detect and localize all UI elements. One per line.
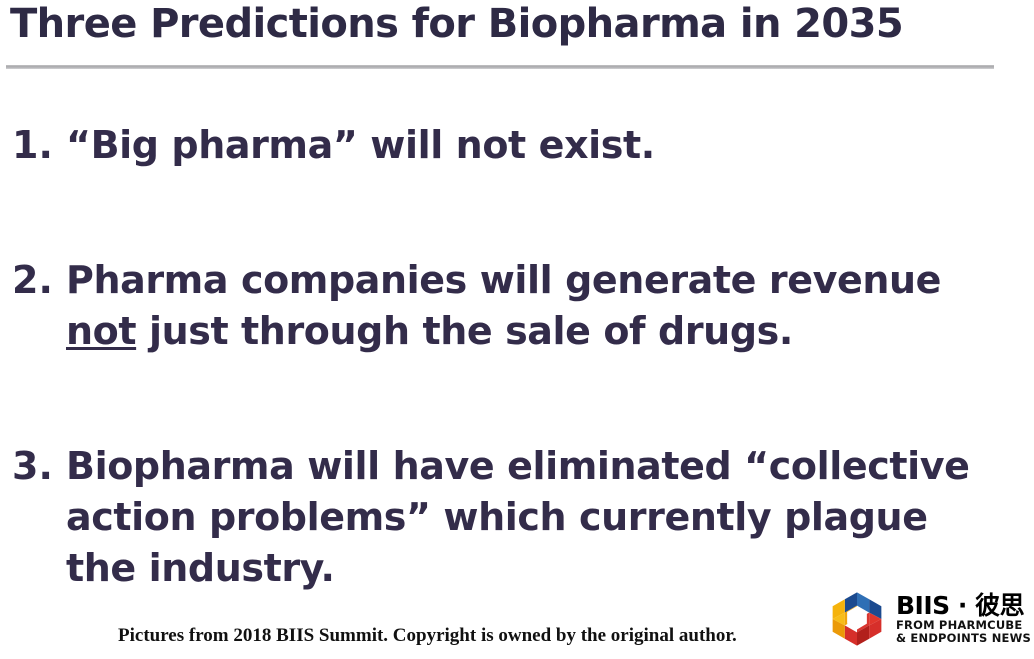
page-title: Three Predictions for Biopharma in 2035 (10, 0, 903, 50)
list-item-number: 1. (12, 120, 53, 171)
list-item: 1. “Big pharma” will not exist. (0, 120, 1034, 171)
logo-tagline-line-1: FROM PHARMCUBE (896, 619, 1031, 633)
copyright-caption: Pictures from 2018 BIIS Summit. Copyrigh… (118, 624, 737, 648)
title-divider (6, 65, 994, 69)
list-item-text-part: Pharma companies will generate revenue (66, 258, 941, 302)
list-item-text: “Big pharma” will not exist. (66, 120, 994, 171)
logo-tagline-line-2: & ENDPOINTS NEWS (896, 632, 1031, 646)
list-item-text-part: Biopharma will have eliminated “collecti… (66, 444, 969, 590)
logo-wordmark: BIIS · 彼思 (896, 592, 1031, 619)
watermark-logo-panel: BIIS · 彼思 FROM PHARMCUBE & ENDPOINTS NEW… (812, 578, 1034, 659)
list-item-number: 3. (12, 441, 53, 492)
list-item-number: 2. (12, 255, 53, 306)
hexagon-ring-logo-icon (828, 590, 886, 648)
list-item-text-tail: just through the sale of drugs. (136, 309, 793, 353)
list-item-text-part: “Big pharma” will not exist. (66, 123, 655, 167)
logo-text-block: BIIS · 彼思 FROM PHARMCUBE & ENDPOINTS NEW… (896, 592, 1031, 646)
list-item: 2. Pharma companies will generate revenu… (0, 255, 1034, 357)
list-item-text: Biopharma will have eliminated “collecti… (66, 441, 994, 594)
predictions-list: 1. “Big pharma” will not exist. 2. Pharm… (0, 120, 1034, 594)
list-item: 3. Biopharma will have eliminated “colle… (0, 441, 1034, 594)
list-item-text: Pharma companies will generate revenue n… (66, 255, 994, 357)
list-item-text-emphasis: not (66, 309, 136, 353)
